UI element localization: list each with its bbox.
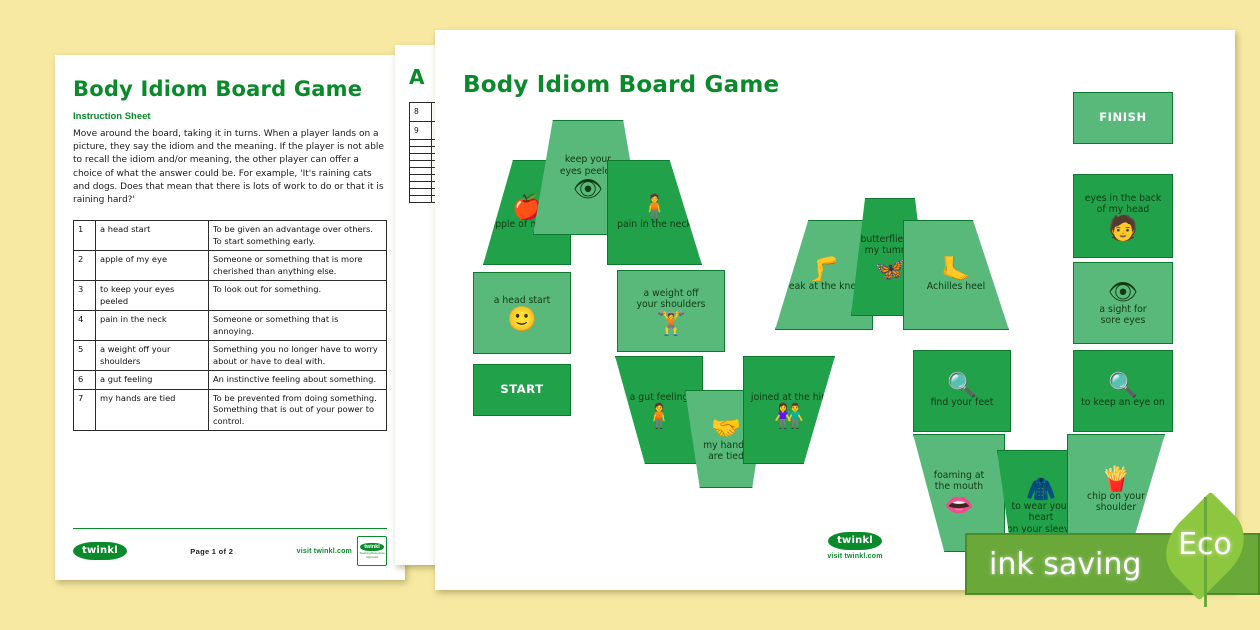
table-cell-meaning: Something you no longer have to worry ab…	[209, 341, 387, 371]
weights-icon: 🏋	[656, 311, 686, 335]
peeler-eye-icon: 👁	[573, 177, 603, 201]
table-cell-meaning: To be given an advantage over others. To…	[209, 221, 387, 251]
table-cell-idiom: my hands are tied	[96, 389, 209, 431]
eye-icon: 👁	[1108, 280, 1138, 304]
table-row: 4pain in the neckSomeone or something th…	[74, 311, 387, 341]
knee-joint-icon: 🦵	[809, 257, 839, 281]
board-tile-label: joined at the hip	[748, 392, 830, 404]
eco-leaf-icon: Eco	[1157, 487, 1253, 612]
table-row: 6a gut feelingAn instinctive feeling abo…	[74, 371, 387, 390]
board-tile-a-sight-for-sore-eyes[interactable]: 👁a sight forsore eyes	[1073, 262, 1173, 344]
instruction-sheet: Body Idiom Board Game Instruction Sheet …	[55, 55, 405, 580]
table-cell-num	[410, 175, 432, 182]
two-people-icon: 👫	[774, 404, 804, 428]
table-cell-num: 9	[410, 121, 432, 140]
visit-link[interactable]: visit twinkl.com	[795, 553, 915, 560]
table-cell-idiom: a gut feeling	[96, 371, 209, 390]
heel-arrow-icon: 🦶	[941, 257, 971, 281]
board-game-sheet: Body Idiom Board Game 🍎apple of my eyeke…	[435, 30, 1235, 590]
twinkl-approved-badge: twinkl Teaching Resources Approved	[357, 536, 387, 566]
eco-label: Eco	[1178, 527, 1232, 562]
table-row: 5a weight off your shouldersSomething yo…	[74, 341, 387, 371]
page-title: Body Idiom Board Game	[73, 77, 387, 101]
mouth-foam-icon: 👄	[944, 493, 974, 517]
board-tile-label: to keep an eye on	[1078, 397, 1168, 409]
table-row: 7my hands are tiedTo be prevented from d…	[74, 389, 387, 431]
twinkl-badge-text: Teaching Resources Approved	[358, 552, 386, 559]
board-tile-label: find your feet	[928, 397, 997, 409]
table-cell-num	[410, 189, 432, 196]
board-tile-label: a sight forsore eyes	[1096, 304, 1149, 327]
back-of-head-icon: 🧑	[1108, 216, 1138, 240]
board-tile-chip-on-your-shoulder[interactable]: 🍟chip on yourshoulder	[1067, 434, 1165, 546]
visit-link[interactable]: visit twinkl.com	[297, 548, 352, 555]
board-tile-a-head-start[interactable]: a head start🙂	[473, 272, 571, 354]
jumper-heart-icon: 🧥	[1026, 477, 1056, 501]
board-tile-label: a weight offyour shoulders	[633, 288, 708, 311]
board-tile-label: chip on yourshoulder	[1084, 491, 1148, 514]
table-row: 3to keep your eyes peeledTo look out for…	[74, 281, 387, 311]
board-footer: twinkl visit twinkl.com	[795, 530, 915, 560]
table-cell-num	[410, 161, 432, 168]
board-tile-joined-at-the-hip[interactable]: joined at the hip👫	[743, 356, 835, 464]
instruction-subtitle: Instruction Sheet	[73, 111, 387, 122]
stomach-ache-icon: 🧍	[644, 404, 674, 428]
board-tile-pain-in-the-neck[interactable]: 🧍pain in the neck	[607, 160, 702, 265]
twinkl-badge-logo: twinkl	[360, 543, 384, 551]
board-tile-achilles-heel[interactable]: 🦶Achilles heel	[903, 220, 1009, 330]
head-start-icon: 🙂	[507, 307, 537, 331]
chips-shoulder-icon: 🍟	[1101, 467, 1131, 491]
table-cell-meaning: Someone or something that is more cheris…	[209, 251, 387, 281]
table-cell-idiom: apple of my eye	[96, 251, 209, 281]
page-number: Page 1 of 2	[190, 547, 233, 556]
board-tile-label: pain in the neck	[614, 219, 695, 231]
board-tile-a-weight-off-your-shoulders[interactable]: a weight offyour shoulders🏋	[617, 270, 725, 352]
game-board: 🍎apple of my eyekeep youreyes peeled👁🧍pa…	[435, 30, 1235, 590]
table-cell-num: 3	[74, 281, 96, 311]
table-cell-num	[410, 140, 432, 147]
board-tile-label: Achilles heel	[924, 281, 988, 293]
person-neck-pain-icon: 🧍	[640, 195, 670, 219]
document-footer: twinkl Page 1 of 2 visit twinkl.com twin…	[73, 528, 387, 566]
table-cell-num: 8	[410, 103, 432, 122]
butterflies-person-icon: 🦋	[875, 257, 905, 281]
table-cell-num: 4	[74, 311, 96, 341]
table-cell-num: 2	[74, 251, 96, 281]
table-cell-meaning: To be prevented from doing something. So…	[209, 389, 387, 431]
twinkl-logo: twinkl	[73, 542, 127, 560]
ink-saving-label: ink saving	[989, 547, 1141, 582]
table-cell-meaning: Someone or something that is annoying.	[209, 311, 387, 341]
table-row: 2apple of my eyeSomeone or something tha…	[74, 251, 387, 281]
table-cell-num: 5	[74, 341, 96, 371]
table-cell-meaning: To look out for something.	[209, 281, 387, 311]
board-tile-label: a head start	[491, 295, 553, 307]
board-tile-label: foaming atthe mouth	[931, 470, 987, 493]
table-cell-idiom: pain in the neck	[96, 311, 209, 341]
instruction-body: Move around the board, taking it in turn…	[73, 128, 387, 207]
tied-hands-icon: 🤝	[711, 416, 741, 440]
table-row: 1a head startTo be given an advantage ov…	[74, 221, 387, 251]
table-cell-num	[410, 182, 432, 189]
start-tile-label: START	[497, 384, 546, 396]
magnifier-feet-icon: 🔍	[947, 373, 977, 397]
table-cell-idiom: a head start	[96, 221, 209, 251]
table-cell-idiom: to keep your eyes peeled	[96, 281, 209, 311]
table-cell-idiom: a weight off your shoulders	[96, 341, 209, 371]
board-tile-eyes-in-the-back-of-my-head[interactable]: eyes in the backof my head🧑	[1073, 174, 1173, 258]
finish-tile-label: FINISH	[1096, 112, 1150, 124]
table-cell-num: 1	[74, 221, 96, 251]
table-cell-meaning: An instinctive feeling about something.	[209, 371, 387, 390]
table-cell-num: 6	[74, 371, 96, 390]
table-cell-num	[410, 168, 432, 175]
finish-tile[interactable]: FINISH	[1073, 92, 1173, 144]
board-tile-label: eyes in the backof my head	[1082, 193, 1164, 216]
table-cell-num	[410, 154, 432, 161]
magnifier-icon: 🔍	[1108, 373, 1138, 397]
start-tile[interactable]: START	[473, 364, 571, 416]
table-cell-num: 7	[74, 389, 96, 431]
board-tile-find-your-feet[interactable]: 🔍find your feet	[913, 350, 1011, 432]
board-tile-label: a gut feeling	[627, 392, 692, 404]
table-cell-num	[410, 147, 432, 154]
table-cell-num	[410, 196, 432, 203]
twinkl-logo: twinkl	[828, 532, 882, 550]
board-tile-to-keep-an-eye-on[interactable]: 🔍to keep an eye on	[1073, 350, 1173, 432]
idiom-table: 1a head startTo be given an advantage ov…	[73, 220, 387, 431]
